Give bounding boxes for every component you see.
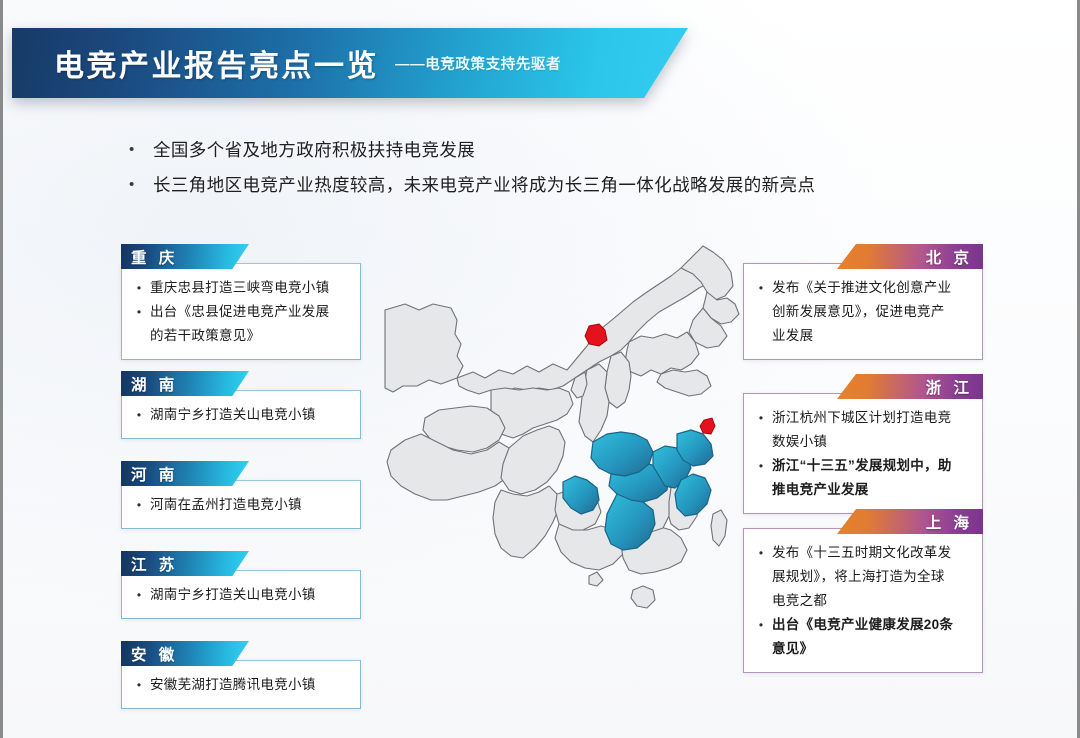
- list-item: 意见》: [750, 638, 972, 660]
- list-item: 业发展: [750, 325, 972, 347]
- card-tab: 湖 南: [121, 371, 249, 396]
- card-tab: 上 海: [837, 509, 983, 534]
- list-item: • 长三角地区电竞产业热度较高，未来电竞产业将成为长三角一体化战略发展的新亮点: [123, 173, 1003, 197]
- list-item: • 出台《忠县促进电竞产业发展: [128, 301, 350, 323]
- card-title: 重 庆: [131, 246, 178, 268]
- card-title: 安 徽: [131, 643, 178, 665]
- card-body: • 湖南宁乡打造关山电竞小镇: [121, 570, 361, 619]
- province-card-shanghai[interactable]: 上 海 • 发布《十三五时期文化改革发 展规划》，将上海打造为全球 电竞之都 •…: [743, 509, 983, 673]
- province-card-henan[interactable]: 河 南 • 河南在孟州打造电竞小镇: [121, 461, 361, 529]
- list-item: • 湖南宁乡打造关山电竞小镇: [128, 404, 350, 426]
- card-title: 江 苏: [131, 553, 178, 575]
- list-item: • 浙江“十三五”发展规划中，助: [750, 455, 972, 477]
- province-card-zhejiang[interactable]: 浙 江 • 浙江杭州下城区计划打造电竞 数娱小镇 • 浙江“十三五”发展规划中，…: [743, 374, 983, 514]
- card-body: • 发布《十三五时期文化改革发 展规划》，将上海打造为全球 电竞之都 • 出台《…: [743, 528, 983, 673]
- province-card-anhui[interactable]: 安 徽 • 安徽芜湖打造腾讯电竞小镇: [121, 641, 361, 709]
- list-item: • 湖南宁乡打造关山电竞小镇: [128, 584, 350, 606]
- card-line-text: 浙江“十三五”发展规划中，助: [772, 455, 952, 477]
- bullet-marker-icon: •: [123, 173, 153, 197]
- bullet-marker-icon: •: [128, 674, 150, 696]
- bullet-marker-icon: •: [128, 494, 150, 516]
- list-item: • 出台《电竞产业健康发展20条: [750, 614, 972, 636]
- card-title: 上 海: [926, 511, 973, 533]
- list-item: • 河南在孟州打造电竞小镇: [128, 494, 350, 516]
- bullet-text: 长三角地区电竞产业热度较高，未来电竞产业将成为长三角一体化战略发展的新亮点: [153, 173, 815, 197]
- province-card-jiangsu[interactable]: 江 苏 • 湖南宁乡打造关山电竞小镇: [121, 551, 361, 619]
- card-line-text: 推电竞产业发展: [772, 479, 869, 501]
- card-line-text: 发布《关于推进文化创意产业: [772, 277, 951, 299]
- list-item: • 浙江杭州下城区计划打造电竞: [750, 407, 972, 429]
- bullet-marker-icon: •: [128, 277, 150, 299]
- map-marker-shanghai: [700, 418, 715, 434]
- list-item: • 安徽芜湖打造腾讯电竞小镇: [128, 674, 350, 696]
- summary-bullets: • 全国多个省及地方政府积极扶持电竞发展 • 长三角地区电竞产业热度较高，未来电…: [123, 138, 1003, 208]
- card-tab: 江 苏: [121, 551, 249, 576]
- card-line-text: 业发展: [772, 325, 813, 347]
- card-body: • 重庆忠县打造三峡弯电竞小镇 • 出台《忠县促进电竞产业发展 的若干政策意见》: [121, 263, 361, 360]
- china-map-svg: [381, 238, 753, 698]
- card-line-text: 创新发展意见》，促进电竞产: [772, 301, 945, 323]
- list-item: • 发布《十三五时期文化改革发: [750, 542, 972, 564]
- card-body: • 安徽芜湖打造腾讯电竞小镇: [121, 660, 361, 709]
- card-line-text: 湖南宁乡打造关山电竞小镇: [150, 404, 316, 426]
- card-body: • 发布《关于推进文化创意产业 创新发展意见》，促进电竞产 业发展: [743, 263, 983, 360]
- bullet-marker-icon: •: [750, 277, 772, 299]
- list-item: • 重庆忠县打造三峡弯电竞小镇: [128, 277, 350, 299]
- province-card-hunan[interactable]: 湖 南 • 湖南宁乡打造关山电竞小镇: [121, 371, 361, 439]
- bullet-marker-icon: •: [128, 301, 150, 323]
- card-title: 北 京: [926, 246, 973, 268]
- bullet-marker-icon: •: [128, 404, 150, 426]
- card-tab: 安 徽: [121, 641, 249, 666]
- card-line-text: 出台《忠县促进电竞产业发展: [150, 301, 329, 323]
- bullet-marker-icon: •: [750, 542, 772, 564]
- bullet-marker-icon: •: [750, 407, 772, 429]
- bullet-marker-icon: •: [123, 138, 153, 162]
- list-item: 的若干政策意见》: [128, 325, 350, 347]
- card-body: • 河南在孟州打造电竞小镇: [121, 480, 361, 529]
- province-card-beijing[interactable]: 北 京 • 发布《关于推进文化创意产业 创新发展意见》，促进电竞产 业发展: [743, 244, 983, 360]
- card-tab: 重 庆: [121, 244, 249, 269]
- card-line-text: 重庆忠县打造三峡弯电竞小镇: [150, 277, 329, 299]
- list-item: 展规划》，将上海打造为全球: [750, 566, 972, 588]
- header-banner: 电竞产业报告亮点一览 ——电竞政策支持先驱者: [12, 28, 688, 98]
- list-item: 创新发展意见》，促进电竞产: [750, 301, 972, 323]
- card-line-text: 展规划》，将上海打造为全球: [772, 566, 945, 588]
- card-line-text: 安徽芜湖打造腾讯电竞小镇: [150, 674, 316, 696]
- list-item: • 发布《关于推进文化创意产业: [750, 277, 972, 299]
- list-item: 数娱小镇: [750, 431, 972, 453]
- china-map: [381, 238, 753, 698]
- bullet-marker-icon: •: [128, 584, 150, 606]
- card-tab: 浙 江: [837, 374, 983, 399]
- header-banner-shape: 电竞产业报告亮点一览 ——电竞政策支持先驱者: [12, 28, 688, 98]
- list-item: • 全国多个省及地方政府积极扶持电竞发展: [123, 138, 1003, 162]
- card-line-text: 浙江杭州下城区计划打造电竞: [772, 407, 951, 429]
- card-line-text: 数娱小镇: [772, 431, 827, 453]
- card-line-text: 湖南宁乡打造关山电竞小镇: [150, 584, 316, 606]
- bullet-marker-icon: •: [750, 455, 772, 477]
- page-subtitle: ——电竞政策支持先驱者: [395, 53, 561, 74]
- bullet-marker-icon: •: [750, 614, 772, 636]
- card-line-text: 出台《电竞产业健康发展20条: [772, 614, 953, 636]
- card-body: • 浙江杭州下城区计划打造电竞 数娱小镇 • 浙江“十三五”发展规划中，助 推电…: [743, 393, 983, 514]
- card-title: 湖 南: [131, 373, 178, 395]
- slide-canvas: 电竞产业报告亮点一览 ——电竞政策支持先驱者 • 全国多个省及地方政府积极扶持电…: [0, 0, 1080, 738]
- card-body: • 湖南宁乡打造关山电竞小镇: [121, 390, 361, 439]
- card-line-text: 电竞之都: [772, 590, 827, 612]
- page-title: 电竞产业报告亮点一览: [54, 41, 379, 85]
- bullet-text: 全国多个省及地方政府积极扶持电竞发展: [153, 138, 475, 162]
- province-card-chongqing[interactable]: 重 庆 • 重庆忠县打造三峡弯电竞小镇 • 出台《忠县促进电竞产业发展 的若干政…: [121, 244, 361, 360]
- card-line-text: 河南在孟州打造电竞小镇: [150, 494, 302, 516]
- list-item: 推电竞产业发展: [750, 479, 972, 501]
- card-line-text: 发布《十三五时期文化改革发: [772, 542, 951, 564]
- card-line-text: 的若干政策意见》: [150, 325, 260, 347]
- card-line-text: 意见》: [772, 638, 813, 660]
- card-title: 浙 江: [926, 376, 973, 398]
- card-tab: 河 南: [121, 461, 249, 486]
- card-tab: 北 京: [837, 244, 983, 269]
- card-title: 河 南: [131, 463, 178, 485]
- list-item: 电竞之都: [750, 590, 972, 612]
